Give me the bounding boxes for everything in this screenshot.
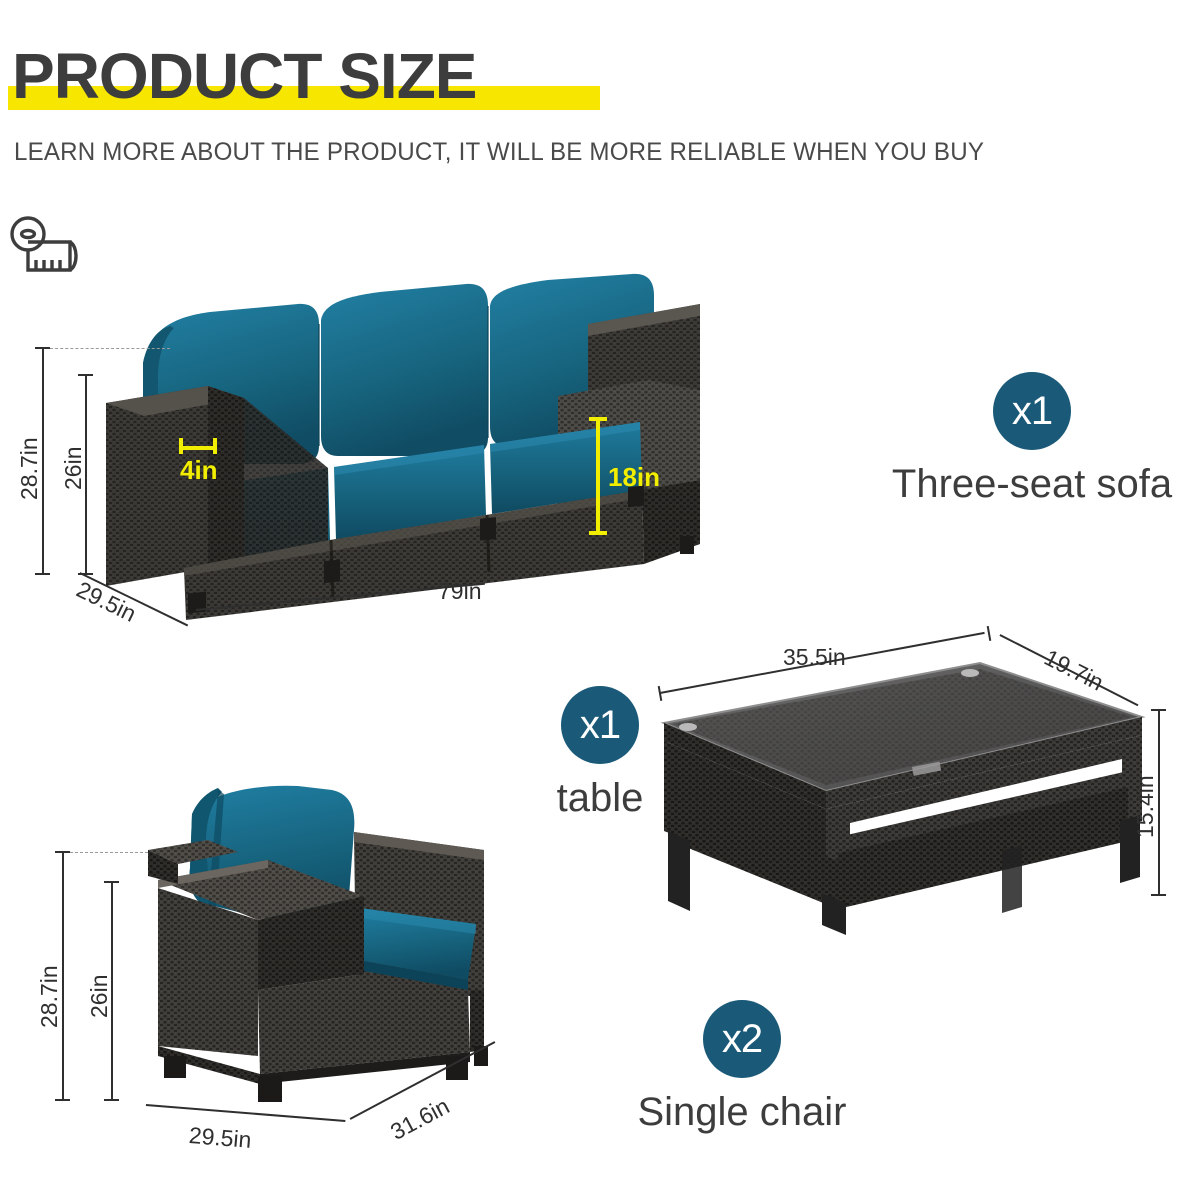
table-illustration <box>650 645 1150 935</box>
dim-label-sofa-seat-height: 18in <box>608 462 660 493</box>
dim-line-sofa-seat-height <box>596 418 600 534</box>
dim-label-table-height: 15.4in <box>1132 775 1159 838</box>
badge-table: x1 table <box>510 686 690 820</box>
qty-badge-text: x1 <box>1012 391 1052 431</box>
dim-label-chair-width: 29.5in <box>188 1122 253 1154</box>
dim-cap-top-th <box>1151 709 1166 711</box>
badge-three-seat-sofa: x1 Three-seat sofa <box>862 372 1200 506</box>
dim-label-chair-back-height: 26in <box>86 975 113 1018</box>
dim-cap-bottom4 <box>589 531 607 535</box>
dim-label-chair-overall-height: 28.7in <box>36 965 63 1028</box>
qty-badge-text: x2 <box>722 1019 762 1059</box>
dim-cap-right3 <box>213 438 217 454</box>
header: PRODUCT SIZE LEARN MORE ABOUT THE PRODUC… <box>0 0 1200 190</box>
dim-leader-chair-height <box>70 852 148 853</box>
dim-cap-bottom <box>35 573 50 575</box>
product-label-single-chair: Single chair <box>552 1090 932 1134</box>
dim-cap-top-cb <box>104 881 119 883</box>
dim-label-sofa-width: 79in <box>438 578 481 605</box>
dim-cap-top2 <box>78 374 93 376</box>
page-title: PRODUCT SIZE <box>12 44 476 108</box>
dim-label-table-length: 35.5in <box>783 644 846 671</box>
dim-line-sofa-arm-width <box>180 446 216 450</box>
dim-cap-bottom-cb <box>104 1099 119 1101</box>
dim-cap-bottom-ch <box>55 1099 70 1101</box>
qty-badge-circle: x2 <box>703 1000 781 1078</box>
product-label-table: table <box>510 776 690 820</box>
tape-measure-icon <box>8 212 94 284</box>
dim-cap-top-ch <box>55 851 70 853</box>
single-chair-illustration <box>118 784 528 1114</box>
dim-cap-right-tl <box>987 626 991 641</box>
dim-label-sofa-back-height: 26in <box>60 447 87 490</box>
dim-cap-left3 <box>179 438 183 454</box>
product-label-three-seat-sofa: Three-seat sofa <box>862 462 1200 506</box>
dim-cap-top <box>35 347 50 349</box>
qty-badge-circle: x1 <box>993 372 1071 450</box>
dim-label-sofa-overall-height: 28.7in <box>16 437 43 500</box>
badge-single-chair: x2 Single chair <box>552 1000 932 1134</box>
dim-leader-sofa-height <box>50 348 170 349</box>
dim-cap-top4 <box>589 417 607 421</box>
dim-cap-bottom-th <box>1151 894 1166 896</box>
qty-badge-text: x1 <box>580 705 620 745</box>
page-subtitle: LEARN MORE ABOUT THE PRODUCT, IT WILL BE… <box>14 138 984 166</box>
qty-badge-circle: x1 <box>561 686 639 764</box>
dim-label-sofa-arm-width: 4in <box>180 455 218 486</box>
